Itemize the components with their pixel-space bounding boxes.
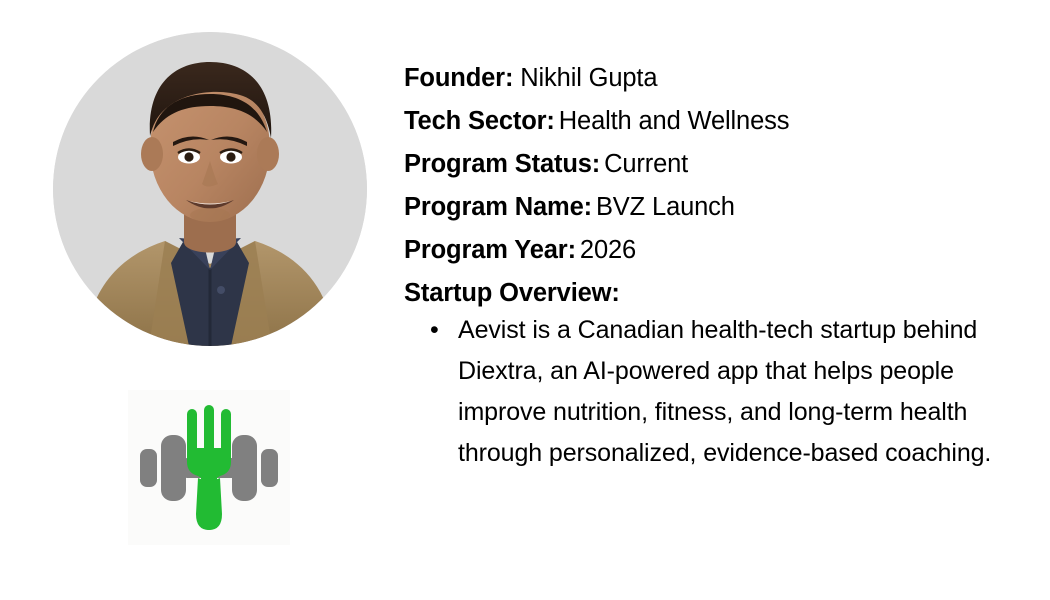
field-label-program-year: Program Year:: [404, 236, 576, 264]
field-label-founder: Founder:: [404, 64, 513, 92]
field-row-program-name: Program Name:BVZ Launch: [404, 186, 1014, 229]
field-value-tech-sector: Health and Wellness: [559, 107, 790, 135]
field-value-program-year: 2026: [580, 236, 636, 264]
bullet-icon: •: [430, 310, 439, 351]
startup-logo: [128, 390, 290, 545]
field-label-program-status: Program Status:: [404, 150, 600, 178]
startup-profile-slide: Founder:Nikhil Gupta Tech Sector:Health …: [0, 0, 1050, 600]
media-column: [0, 0, 395, 600]
fork-dumbbell-icon: [134, 395, 284, 540]
list-item-text: Aevist is a Canadian health-tech startup…: [458, 316, 991, 467]
list-item: • Aevist is a Canadian health-tech start…: [404, 310, 1004, 474]
field-row-tech-sector: Tech Sector:Health and Wellness: [404, 100, 1014, 143]
fork-shape: [187, 405, 231, 530]
startup-overview-list: • Aevist is a Canadian health-tech start…: [404, 310, 1004, 474]
field-list: Founder:Nikhil Gupta Tech Sector:Health …: [404, 57, 1014, 315]
field-row-program-status: Program Status:Current: [404, 143, 1014, 186]
field-label-tech-sector: Tech Sector:: [404, 107, 555, 135]
founder-portrait: [53, 32, 367, 346]
field-label-program-name: Program Name:: [404, 193, 592, 221]
field-row-program-year: Program Year:2026: [404, 229, 1014, 272]
details-column: Founder:Nikhil Gupta Tech Sector:Health …: [404, 0, 1024, 600]
field-row-founder: Founder:Nikhil Gupta: [404, 57, 1014, 100]
field-value-founder: Nikhil Gupta: [520, 64, 657, 92]
field-value-program-name: BVZ Launch: [596, 193, 735, 221]
startup-overview-heading: Startup Overview:: [404, 272, 1014, 315]
founder-portrait-image: [53, 32, 367, 346]
field-value-program-status: Current: [604, 150, 688, 178]
